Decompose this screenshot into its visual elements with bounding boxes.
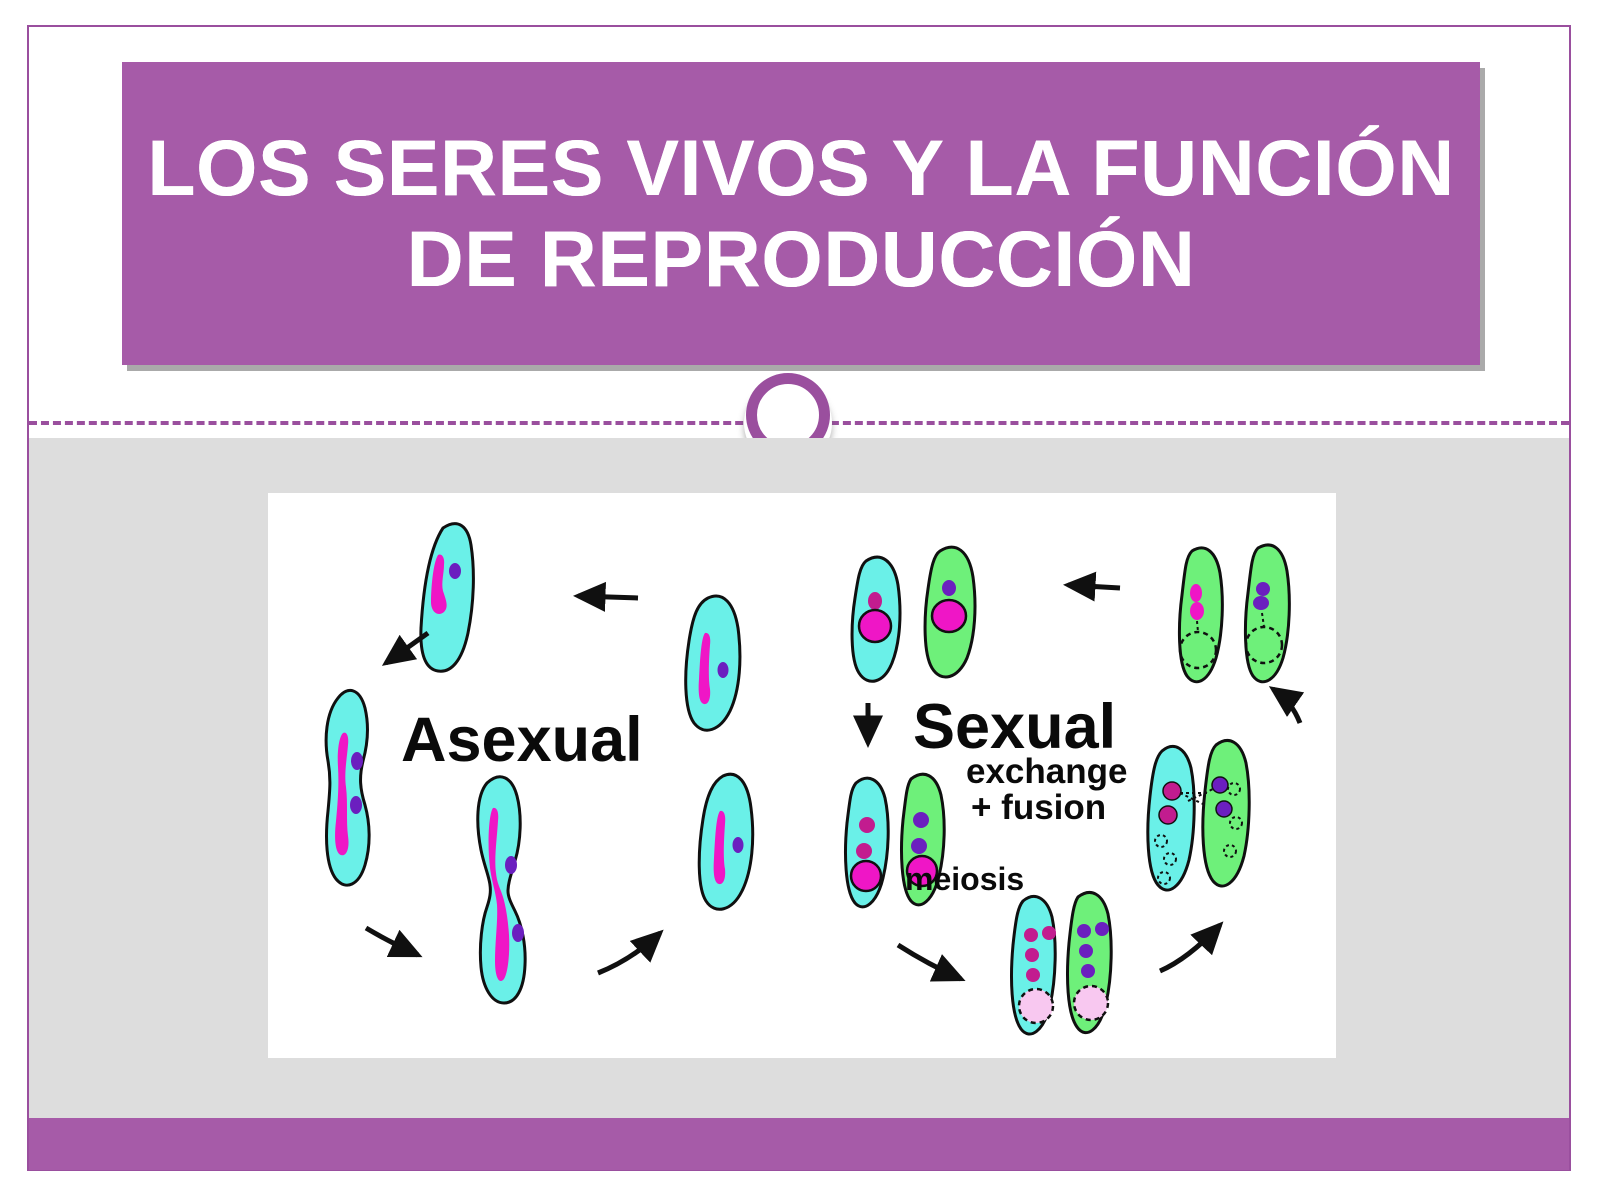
title-banner: LOS SERES VIVOS Y LA FUNCIÓN DE REPRODUC…	[122, 62, 1480, 365]
asexual-cell-right-upper	[686, 596, 740, 730]
sexual-cell-topleft-cyan	[852, 557, 900, 681]
label-meiosis: meiosis	[905, 861, 1024, 897]
bottom-accent-bar	[29, 1118, 1569, 1170]
reproduction-diagram-image: Asexual	[268, 493, 1336, 1058]
sexual-cell-topright-left	[1179, 548, 1222, 682]
sexual-cell-midright-cyan	[1148, 746, 1194, 890]
sexual-cell-bottom-green	[1068, 892, 1112, 1032]
sexual-cell-midright-green	[1203, 741, 1249, 887]
page-title: LOS SERES VIVOS Y LA FUNCIÓN DE REPRODUC…	[122, 123, 1480, 303]
label-fusion: + fusion	[971, 788, 1106, 827]
sexual-cell-bottom-cyan	[1012, 896, 1056, 1034]
arrow-asexual-top	[578, 596, 638, 598]
label-asexual: Asexual	[401, 705, 643, 775]
slide-root: LOS SERES VIVOS Y LA FUNCIÓN DE REPRODUC…	[0, 0, 1600, 1200]
sexual-cell-topright-right	[1245, 545, 1289, 682]
diagram-svg: Asexual	[268, 493, 1336, 1058]
label-exchange: exchange	[966, 752, 1127, 791]
arrow-sexual-top	[1068, 585, 1120, 588]
sexual-cell-topleft-green	[925, 547, 975, 677]
